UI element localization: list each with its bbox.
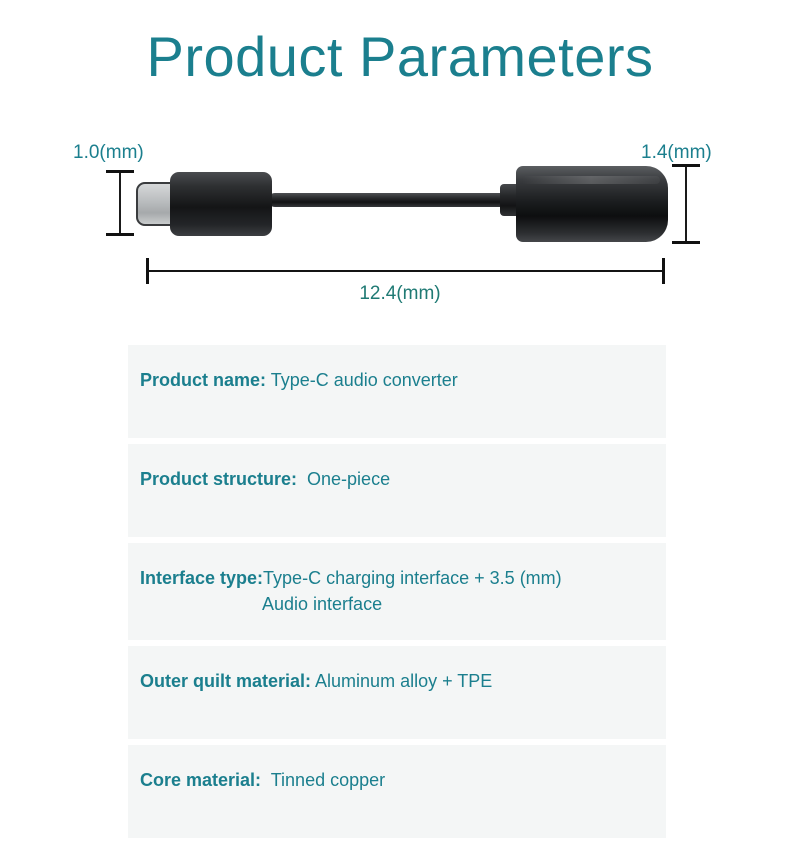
usb-c-connector-housing-icon — [170, 172, 272, 236]
spec-line: Outer quilt material: Aluminum alloy + T… — [140, 668, 666, 694]
dimension-stem — [119, 173, 121, 233]
spec-key: Core material: — [140, 770, 261, 790]
dimension-mark-length — [146, 258, 665, 284]
cable-icon — [268, 193, 508, 207]
spec-value: One-piece — [297, 469, 390, 489]
spec-line: Product name: Type-C audio converter — [140, 367, 666, 393]
audio-jack-highlight — [522, 176, 660, 184]
spec-row-product-structure: Product structure: One-piece — [128, 444, 666, 537]
spec-row-product-name: Product name: Type-C audio converter — [128, 345, 666, 438]
spec-value-continued: Audio interface — [140, 591, 666, 617]
dimension-line — [148, 270, 663, 272]
spec-row-core-material: Core material: Tinned copper — [128, 745, 666, 838]
spec-key: Product name: — [140, 370, 266, 390]
dimension-cap-bottom — [672, 241, 700, 244]
spec-row-interface-type: Interface type:Type-C charging interface… — [128, 543, 666, 640]
spec-line: Interface type:Type-C charging interface… — [140, 565, 666, 591]
dimension-stem — [685, 167, 687, 241]
spec-value: Tinned copper — [261, 770, 385, 790]
product-diagram: 1.0(mm) 1.4(mm) 12.4(mm) — [0, 120, 800, 320]
spec-line: Core material: Tinned copper — [140, 767, 666, 793]
specification-list: Product name: Type-C audio converter Pro… — [128, 345, 666, 844]
spec-line: Product structure: One-piece — [140, 466, 666, 492]
dimension-mark-height-right — [672, 164, 700, 244]
dimension-label-length: 12.4(mm) — [0, 283, 800, 305]
spec-key: Outer quilt material: — [140, 671, 311, 691]
spec-row-outer-quilt-material: Outer quilt material: Aluminum alloy + T… — [128, 646, 666, 739]
spec-value: Type-C audio converter — [266, 370, 458, 390]
spec-value: Type-C charging interface + 3.5 (mm) — [263, 568, 562, 588]
dimension-endcap-right — [662, 258, 665, 284]
spec-key: Interface type: — [140, 568, 263, 588]
spec-value: Aluminum alloy + TPE — [311, 671, 492, 691]
adapter-illustration — [130, 160, 675, 250]
spec-key: Product structure: — [140, 469, 297, 489]
page-title: Product Parameters — [0, 26, 800, 88]
